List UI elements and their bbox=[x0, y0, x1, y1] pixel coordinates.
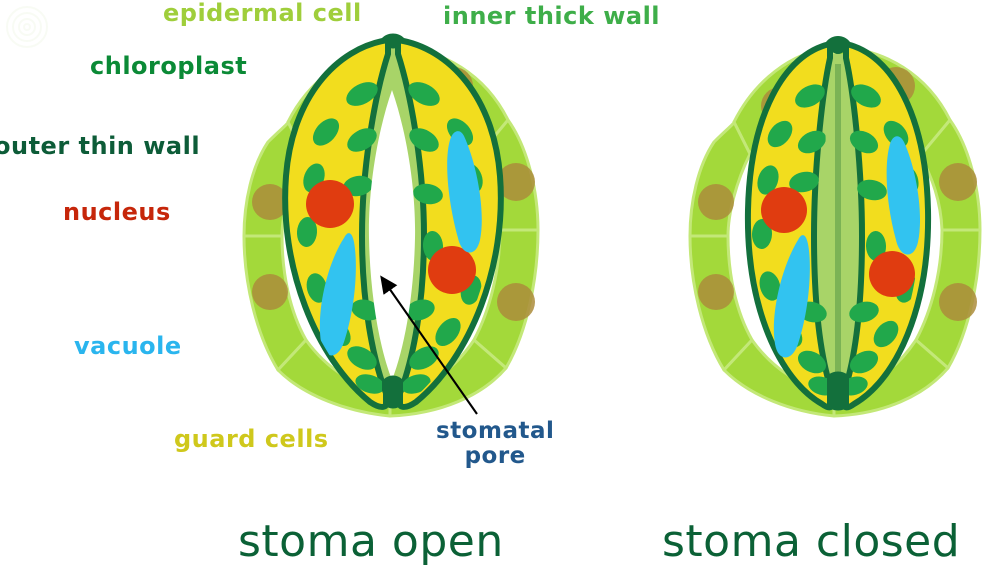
nucleus bbox=[869, 251, 915, 297]
caption-stoma-closed: stoma closed bbox=[662, 516, 960, 567]
label-inner-thick-wall: inner thick wall bbox=[443, 4, 660, 30]
epidermal-cell bbox=[690, 122, 750, 236]
stoma-open-diagram bbox=[186, 24, 606, 424]
guard-cell-seam bbox=[835, 64, 841, 390]
label-stomatal-pore-line1: stomatal bbox=[436, 419, 554, 444]
diagram-canvas: epidermal cell inner thick wall chloropl… bbox=[0, 0, 992, 581]
epidermal-nucleus bbox=[939, 163, 977, 201]
stoma-closed-diagram bbox=[638, 24, 992, 424]
epidermal-nucleus bbox=[497, 283, 535, 321]
nucleus bbox=[428, 246, 476, 294]
label-chloroplast: chloroplast bbox=[90, 54, 247, 80]
label-outer-thin-wall: outer thin wall bbox=[0, 134, 200, 160]
epidermal-nucleus bbox=[939, 283, 977, 321]
label-stomatal-pore-line2: pore bbox=[436, 444, 554, 469]
label-vacuole: vacuole bbox=[74, 334, 182, 360]
nucleus bbox=[306, 180, 354, 228]
epidermal-nucleus bbox=[698, 274, 734, 310]
guard-cell-junction-bottom bbox=[827, 372, 849, 411]
label-nucleus: nucleus bbox=[63, 200, 171, 226]
watermark-spiral-top-left bbox=[4, 4, 50, 50]
label-epidermal-cell: epidermal cell bbox=[163, 1, 362, 27]
nucleus bbox=[761, 187, 807, 233]
caption-stoma-open: stoma open bbox=[238, 516, 504, 567]
guard-cell-junction-bottom bbox=[383, 376, 403, 409]
epidermal-nucleus bbox=[252, 274, 288, 310]
label-guard-cells: guard cells bbox=[174, 427, 329, 453]
label-stomatal-pore: stomatal pore bbox=[436, 419, 554, 470]
epidermal-nucleus bbox=[698, 184, 734, 220]
